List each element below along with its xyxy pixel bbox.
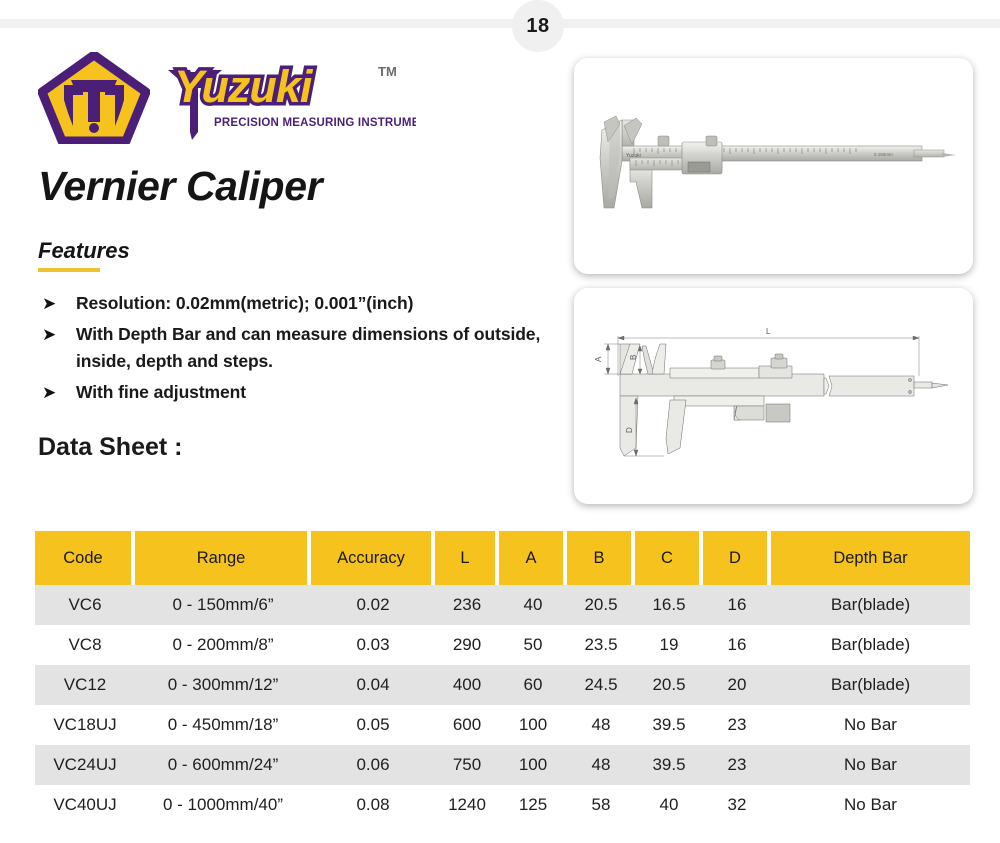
table-cell: 0.03 [311, 625, 435, 665]
table-cell: 0.05 [311, 705, 435, 745]
table-cell: 16 [703, 625, 771, 665]
yuzuki-shield-logo-icon [38, 52, 150, 144]
dimension-label-L: L [766, 327, 771, 336]
table-cell: 58 [567, 785, 635, 825]
table-cell: VC6 [35, 585, 135, 625]
vernier-caliper-technical-drawing: L A B D [574, 288, 973, 504]
table-cell: 290 [435, 625, 499, 665]
page-number-badge: 18 [512, 0, 564, 52]
table-cell: VC8 [35, 625, 135, 665]
features-list: ➤ Resolution: 0.02mm(metric); 0.001”(inc… [38, 290, 558, 406]
features-heading-underline [38, 268, 100, 272]
table-cell: 0 - 450mm/18” [135, 705, 311, 745]
table-cell: 20.5 [567, 585, 635, 625]
table-row: VC60 - 150mm/6”0.022364020.516.516Bar(bl… [35, 585, 970, 625]
table-cell: VC24UJ [35, 745, 135, 785]
table-cell: VC12 [35, 665, 135, 705]
dimension-label-D: D [625, 427, 634, 433]
column-header-code: Code [35, 531, 135, 585]
table-cell: 100 [499, 745, 567, 785]
table-cell: VC18UJ [35, 705, 135, 745]
table-cell: 23 [703, 705, 771, 745]
table-cell: 23 [703, 745, 771, 785]
table-cell: No Bar [771, 785, 970, 825]
column-header-c: C [635, 531, 703, 585]
table-header-row: Code Range Accuracy L A B C D Depth Bar [35, 531, 970, 585]
left-content-column: Yuzuki TM PRECISION MEASURING INSTRUMENT… [38, 52, 558, 462]
table-cell: 39.5 [635, 705, 703, 745]
table-cell: 20.5 [635, 665, 703, 705]
table-cell: 50 [499, 625, 567, 665]
page-title: Vernier Caliper [38, 163, 558, 210]
column-header-accuracy: Accuracy [311, 531, 435, 585]
table-cell: 40 [499, 585, 567, 625]
table-cell: 0.06 [311, 745, 435, 785]
table-row: VC24UJ0 - 600mm/24”0.067501004839.523No … [35, 745, 970, 785]
vernier-caliper-photo: Yuzuki 0 150mm [574, 58, 973, 274]
table-body: VC60 - 150mm/6”0.022364020.516.516Bar(bl… [35, 585, 970, 825]
column-header-depth-bar: Depth Bar [771, 531, 970, 585]
table-row: VC120 - 300mm/12”0.044006024.520.520Bar(… [35, 665, 970, 705]
table-cell: No Bar [771, 705, 970, 745]
table-cell: 0.02 [311, 585, 435, 625]
table-cell: 48 [567, 705, 635, 745]
arrow-right-triangle-icon: ➤ [38, 290, 76, 317]
table-cell: 23.5 [567, 625, 635, 665]
table-cell: 16.5 [635, 585, 703, 625]
table-cell: 400 [435, 665, 499, 705]
feature-text: With fine adjustment [76, 379, 246, 406]
features-heading: Features [38, 238, 130, 264]
column-header-l: L [435, 531, 499, 585]
table-cell: 0.04 [311, 665, 435, 705]
table-cell: 32 [703, 785, 771, 825]
table-cell: 39.5 [635, 745, 703, 785]
technical-drawing-card: L A B D [574, 288, 973, 504]
table-cell: 0 - 200mm/8” [135, 625, 311, 665]
table-cell: VC40UJ [35, 785, 135, 825]
svg-text:Yuzuki: Yuzuki [626, 153, 641, 159]
table-cell: 0 - 600mm/24” [135, 745, 311, 785]
table-cell: Bar(blade) [771, 625, 970, 665]
dimension-label-B: B [629, 355, 638, 360]
table-row: VC18UJ0 - 450mm/18”0.056001004839.523No … [35, 705, 970, 745]
table-cell: 16 [703, 585, 771, 625]
table-cell: Bar(blade) [771, 665, 970, 705]
product-photo-card: Yuzuki 0 150mm [574, 58, 973, 274]
feature-item: ➤ With fine adjustment [38, 379, 558, 406]
table-cell: 19 [635, 625, 703, 665]
features-section-header: Features [38, 238, 558, 272]
table-cell: 0.08 [311, 785, 435, 825]
table-cell: 60 [499, 665, 567, 705]
trademark-symbol: TM [378, 64, 397, 79]
table-row: VC40UJ0 - 1000mm/40”0.081240125584032No … [35, 785, 970, 825]
table-cell: 0 - 150mm/6” [135, 585, 311, 625]
feature-item: ➤ Resolution: 0.02mm(metric); 0.001”(inc… [38, 290, 558, 317]
column-header-d: D [703, 531, 771, 585]
feature-text: Resolution: 0.02mm(metric); 0.001”(inch) [76, 290, 413, 317]
table-cell: 24.5 [567, 665, 635, 705]
table-cell: 750 [435, 745, 499, 785]
feature-text: With Depth Bar and can measure dimension… [76, 321, 558, 375]
brand-wordmark-text: Yuzuki [174, 61, 314, 112]
table-row: VC80 - 200mm/8”0.032905023.51916Bar(blad… [35, 625, 970, 665]
brand-header: Yuzuki TM PRECISION MEASURING INSTRUMENT… [38, 52, 558, 147]
table-cell: 48 [567, 745, 635, 785]
table-cell: 100 [499, 705, 567, 745]
table-cell: 0 - 300mm/12” [135, 665, 311, 705]
table-cell: 125 [499, 785, 567, 825]
table-cell: 600 [435, 705, 499, 745]
table-cell: 40 [635, 785, 703, 825]
table-cell: No Bar [771, 745, 970, 785]
svg-text:0 150mm: 0 150mm [874, 152, 893, 157]
column-header-b: B [567, 531, 635, 585]
feature-item: ➤ With Depth Bar and can measure dimensi… [38, 321, 558, 375]
column-header-range: Range [135, 531, 311, 585]
arrow-right-triangle-icon: ➤ [38, 379, 76, 406]
dimension-label-A: A [594, 356, 603, 362]
arrow-right-triangle-icon: ➤ [38, 321, 76, 348]
table-cell: 0 - 1000mm/40” [135, 785, 311, 825]
table-cell: Bar(blade) [771, 585, 970, 625]
table-cell: 20 [703, 665, 771, 705]
page-top-divider [0, 19, 1000, 28]
brand-tagline: PRECISION MEASURING INSTRUMENTS [214, 117, 416, 129]
table-cell: 1240 [435, 785, 499, 825]
table-cell: 236 [435, 585, 499, 625]
data-sheet-table: Code Range Accuracy L A B C D Depth Bar … [35, 531, 970, 825]
yuzuki-wordmark: Yuzuki TM PRECISION MEASURING INSTRUMENT… [156, 54, 416, 146]
data-sheet-heading: Data Sheet : [38, 433, 558, 462]
column-header-a: A [499, 531, 567, 585]
